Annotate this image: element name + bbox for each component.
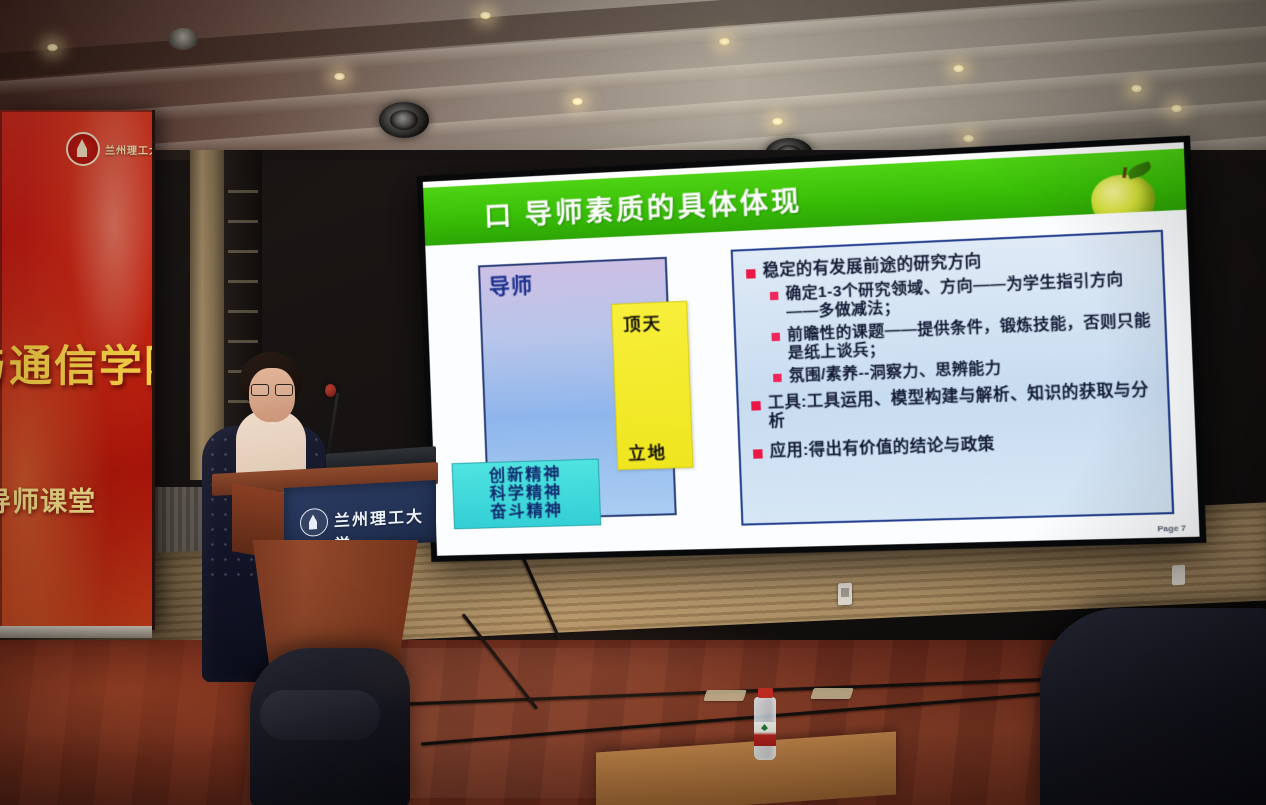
bullet-text: 工具:工具运用、模型构建与解析、知识的获取与分析	[768, 380, 1158, 432]
banner-org-name: 兰州理工大学	[105, 142, 155, 157]
podium-front-plate: 兰州理工大学	[284, 480, 436, 550]
bullet-marker-icon	[771, 332, 780, 341]
bullet-item: 工具:工具运用、模型构建与解析、知识的获取与分析	[751, 380, 1157, 433]
smoke-detector-icon	[168, 28, 198, 50]
yellow-box-top-text: 顶天	[623, 309, 663, 336]
bullet-text: 氛围/素养--洞察力、思辨能力	[788, 359, 1001, 386]
ceiling-light	[718, 37, 731, 46]
ceiling-light	[952, 64, 965, 73]
bullet-marker-icon	[751, 401, 761, 411]
microphone-icon	[325, 384, 336, 397]
water-bottle	[752, 688, 778, 760]
presentation-slide: 口 导师素质的具体体现 导师 顶天 立地 创新精神 科学精神 奋斗精神	[423, 142, 1200, 556]
ceiling-light	[571, 97, 584, 106]
cable-tape	[703, 690, 747, 701]
ceiling-light	[479, 11, 492, 20]
ceiling-light	[771, 117, 784, 126]
glasses-icon	[251, 384, 293, 394]
chair-foreground-left	[250, 648, 410, 805]
banner-subtitle: 秀导师课堂	[0, 480, 155, 519]
bottle-cap	[758, 688, 773, 698]
bullet-marker-icon	[770, 291, 779, 300]
screen-bezel: 口 导师素质的具体体现 导师 顶天 立地 创新精神 科学精神 奋斗精神	[417, 136, 1207, 562]
banner-stand	[0, 626, 152, 638]
ceiling-light	[1130, 84, 1143, 93]
event-banner: 兰州理工大学 与通信学院 秀导师课堂 024.12.3	[0, 110, 155, 630]
bullet-text: 应用:得出有价值的结论与政策	[769, 435, 995, 461]
air-vent	[379, 102, 429, 138]
cable-tape	[810, 688, 854, 699]
bullet-marker-icon	[746, 269, 756, 279]
lecture-hall-photo: 兰州理工大学 与通信学院 秀导师课堂 024.12.3 口 导师素质的具体体现 …	[0, 0, 1266, 805]
bullet-marker-icon	[753, 449, 763, 459]
spirit-box: 创新精神 科学精神 奋斗精神	[452, 459, 602, 530]
chair-foreground-right	[1040, 608, 1266, 805]
ceiling-light	[1170, 104, 1183, 113]
slide-body: 导师 顶天 立地 创新精神 科学精神 奋斗精神 稳定的有发展前	[425, 210, 1199, 556]
banner-title: 与通信学院	[0, 332, 154, 394]
banner-logo: 兰州理工大学	[66, 132, 155, 166]
bullet-list-box: 稳定的有发展前途的研究方向 确定1-3个研究领域、方向——为学生指引方向——多做…	[731, 230, 1175, 526]
university-seal-icon	[300, 508, 328, 537]
ceiling-light	[46, 43, 59, 52]
power-outlet[interactable]	[838, 583, 852, 606]
led-screen: 口 导师素质的具体体现 导师 顶天 立地 创新精神 科学精神 奋斗精神	[417, 136, 1207, 562]
power-outlet[interactable]	[1172, 565, 1185, 586]
university-seal-icon	[66, 132, 100, 166]
ceiling-light	[333, 72, 346, 81]
slide-page-number: Page 7	[1157, 523, 1186, 533]
spirit-line: 奋斗精神	[460, 501, 594, 523]
mentor-box-label: 导师	[488, 269, 533, 301]
yellow-box-bottom-text: 立地	[628, 438, 668, 465]
podium: 兰州理工大学	[206, 468, 438, 673]
ceiling-light	[962, 134, 975, 143]
bullet-item: 应用:得出有价值的结论与政策	[753, 430, 1159, 462]
bullet-marker-icon	[773, 373, 782, 382]
yellow-pillar-box: 顶天 立地	[611, 301, 693, 470]
